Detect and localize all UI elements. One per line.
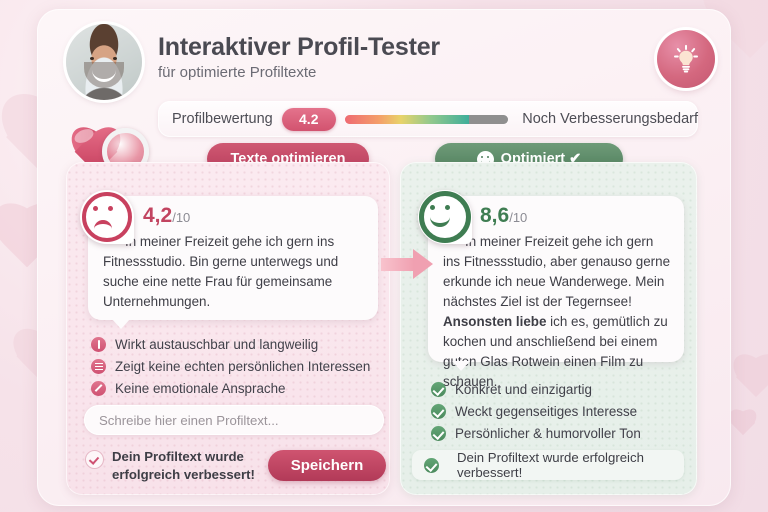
- original-text: In meiner Freizeit gehe ich gern ins Fit…: [103, 232, 366, 312]
- list-item: Keine emotionale Ansprache: [91, 377, 370, 399]
- optimized-text: In meiner Freizeit gehe ich gern ins Fit…: [443, 232, 672, 392]
- optimized-bullet-list: Konkret und einzigartig Weckt gegenseiti…: [431, 378, 641, 444]
- check-icon: [431, 404, 446, 419]
- profile-text-input[interactable]: [84, 405, 384, 435]
- avatar: [66, 24, 142, 100]
- no-entry-icon: [91, 381, 106, 396]
- check-icon: [424, 458, 439, 473]
- rating-note: Noch Verbesserungsbedarf: [522, 111, 698, 127]
- rating-score-badge: 4.2: [282, 108, 336, 131]
- happy-face-icon: [418, 190, 472, 244]
- check-icon: [431, 426, 446, 441]
- optimized-success-strip: Dein Profiltext wurde erfolgreich verbes…: [412, 450, 684, 480]
- page-title: Interaktiver Profil-Tester: [158, 33, 440, 62]
- check-icon: [431, 382, 446, 397]
- right-arrow-icon: [381, 249, 435, 279]
- original-score: 4,2/10: [143, 204, 190, 228]
- list-item: Persönlicher & humorvoller Ton: [431, 422, 641, 444]
- progress-rest: [469, 115, 508, 124]
- lines-icon: [91, 359, 106, 374]
- optimized-score: 8,6/10: [480, 204, 527, 228]
- background-heart: [728, 355, 768, 407]
- optimized-success-text: Dein Profiltext wurde erfolgreich verbes…: [457, 450, 684, 480]
- lightbulb-icon[interactable]: [657, 30, 715, 88]
- rating-progress-bar: [345, 115, 509, 124]
- background-heart: [726, 410, 760, 441]
- list-item: Wirkt austauschbar und langweilig: [91, 333, 370, 355]
- save-note-text: Dein Profiltext wurde erfolgreich verbes…: [112, 448, 260, 484]
- rating-label: Profilbewertung: [172, 111, 273, 127]
- check-circle-icon: [85, 450, 104, 469]
- original-bullet-list: Wirkt austauschbar und langweilig Zeigt …: [91, 333, 370, 399]
- list-item: Zeigt keine echten persönlichen Interess…: [91, 355, 370, 377]
- save-button[interactable]: Speichern: [268, 450, 386, 481]
- page-subtitle: für optimierte Profiltexte: [158, 64, 316, 81]
- save-note: Dein Profiltext wurde erfolgreich verbes…: [85, 448, 260, 484]
- progress-fill: [345, 115, 469, 124]
- exclamation-icon: [91, 337, 106, 352]
- app-screen: Interaktiver Profil-Tester für optimiert…: [0, 0, 768, 512]
- list-item: Weckt gegenseitiges Interesse: [431, 400, 641, 422]
- sad-face-icon: [80, 190, 134, 244]
- rating-strip: Profilbewertung 4.2 Noch Verbesserungsbe…: [158, 101, 698, 137]
- list-item: Konkret und einzigartig: [431, 378, 641, 400]
